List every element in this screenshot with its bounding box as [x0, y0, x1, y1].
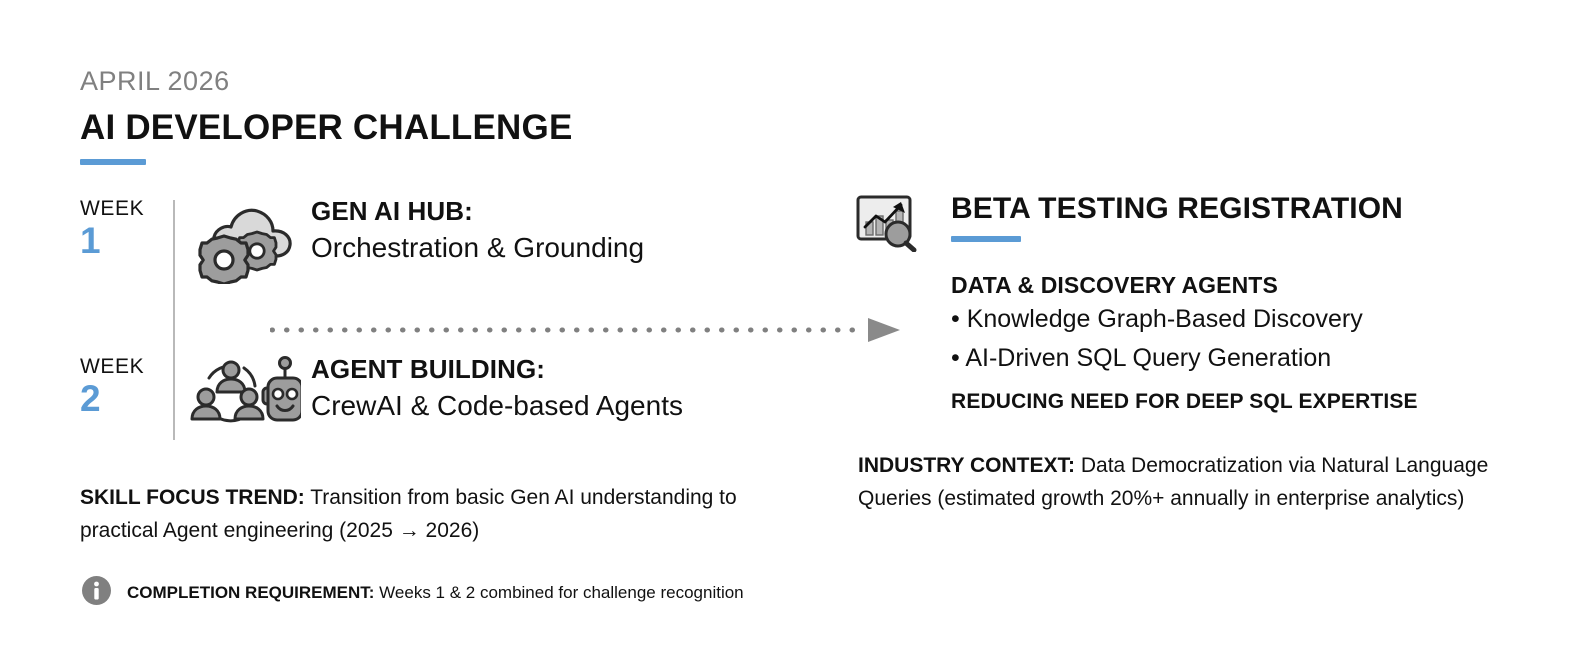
week-word: WEEK — [80, 356, 173, 378]
page-title: AI DEVELOPER CHALLENGE — [80, 110, 573, 145]
week-word: WEEK — [80, 198, 173, 220]
header-eyebrow: APRIL 2026 — [80, 68, 573, 95]
completion-requirement: COMPLETION REQUIREMENT: Weeks 1 & 2 comb… — [82, 576, 744, 610]
week-label-box: WEEK 2 — [80, 354, 173, 419]
week-heading: AGENT BUILDING: — [311, 354, 683, 385]
week-row: WEEK 2 — [80, 354, 840, 434]
week-label-box: WEEK 1 — [80, 196, 173, 261]
week-heading: GEN AI HUB: — [311, 196, 644, 227]
info-circle-icon — [82, 576, 111, 610]
industry-context-label: INDUSTRY CONTEXT: — [858, 454, 1075, 477]
list-item: • Knowledge Graph-Based Discovery — [951, 300, 1515, 340]
page-header: APRIL 2026 AI DEVELOPER CHALLENGE — [80, 68, 573, 165]
skill-focus-trend: SKILL FOCUS TREND: Transition from basic… — [80, 482, 780, 547]
skill-focus-trend-label: SKILL FOCUS TREND: — [80, 486, 305, 509]
industry-context: INDUSTRY CONTEXT: Data Democratization v… — [858, 450, 1518, 515]
dotted-arrow-right-icon — [270, 318, 900, 342]
beta-accent-rule — [951, 236, 1021, 242]
week-text: GEN AI HUB: Orchestration & Grounding — [311, 196, 644, 265]
completion-requirement-text: Weeks 1 & 2 combined for challenge recog… — [374, 583, 743, 602]
week-text: AGENT BUILDING: CrewAI & Code-based Agen… — [311, 354, 683, 423]
list-item: • AI-Driven SQL Query Generation — [951, 339, 1515, 379]
title-accent-rule — [80, 159, 146, 165]
agents-subhead: DATA & DISCOVERY AGENTS — [951, 271, 1515, 300]
agents-block: DATA & DISCOVERY AGENTS • Knowledge Grap… — [951, 271, 1515, 415]
cloud-gears-icon — [189, 196, 301, 284]
weeks-block: WEEK 1 — [80, 196, 840, 446]
week-number: 1 — [80, 222, 173, 261]
week-row: WEEK 1 — [80, 196, 840, 284]
week-subtitle: Orchestration & Grounding — [311, 230, 644, 265]
chart-magnifier-icon — [855, 192, 917, 257]
beta-title-wrap: BETA TESTING REGISTRATION — [951, 192, 1403, 242]
timeline-section: WEEK 1 — [80, 196, 840, 446]
beta-section: BETA TESTING REGISTRATION DATA & DISCOVE… — [855, 192, 1515, 415]
agents-robot-icon — [189, 354, 301, 434]
completion-requirement-label: COMPLETION REQUIREMENT: — [127, 583, 374, 602]
week-number: 2 — [80, 380, 173, 419]
beta-title: BETA TESTING REGISTRATION — [951, 192, 1403, 225]
week-subtitle: CrewAI & Code-based Agents — [311, 388, 683, 423]
completion-requirement-text-wrap: COMPLETION REQUIREMENT: Weeks 1 & 2 comb… — [127, 582, 744, 604]
beta-header: BETA TESTING REGISTRATION — [855, 192, 1515, 257]
agents-footer: REDUCING NEED FOR DEEP SQL EXPERTISE — [951, 389, 1515, 415]
